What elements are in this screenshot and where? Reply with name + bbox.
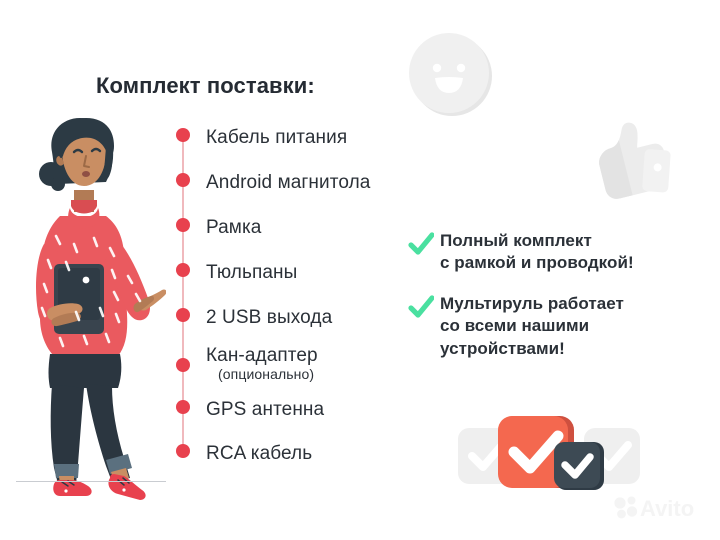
page-title: Комплект поставки: (96, 73, 315, 99)
list-item: 2 USB выхода (176, 308, 332, 327)
list-item-label: RCA кабель (206, 444, 312, 463)
list-item-label: Кабель питания (206, 128, 347, 147)
list-item-label: Рамка (206, 218, 261, 237)
bullet-dot-icon (176, 308, 190, 322)
bullet-dot-icon (176, 400, 190, 414)
list-item-label: Android магнитола (206, 173, 370, 192)
avito-watermark-text: Avito (640, 496, 694, 520)
benefit-item: Полный комплект с рамкой и проводкой! (408, 230, 634, 275)
list-item: Кан-адаптер (опционально) (176, 346, 318, 382)
avito-watermark: Avito (612, 494, 708, 520)
list-item-label: Кан-адаптер (опционально) (206, 346, 318, 382)
bullet-dot-icon (176, 358, 190, 372)
green-check-icon (408, 295, 434, 321)
checkbox-group-icon (456, 402, 642, 498)
benefit-text: Полный комплект с рамкой и проводкой! (440, 230, 634, 275)
thumbs-up-icon (578, 112, 682, 216)
list-item: Android магнитола (176, 173, 370, 192)
list-item-label: Тюльпаны (206, 263, 297, 282)
list-item: RCA кабель (176, 444, 312, 463)
ground-line (16, 481, 166, 482)
poster-canvas: Avito Комплект поставки: (0, 0, 720, 540)
list-item-title: Кан-адаптер (206, 345, 318, 366)
bullet-dot-icon (176, 173, 190, 187)
bullet-dot-icon (176, 128, 190, 142)
list-item-label: 2 USB выхода (206, 308, 332, 327)
smiley-face-icon (404, 28, 496, 120)
list-item-label: GPS антенна (206, 400, 324, 419)
benefit-item: Мультируль работает со всеми нашими устр… (408, 293, 624, 360)
bullet-dot-icon (176, 218, 190, 232)
bullet-dot-icon (176, 444, 190, 458)
list-item: Рамка (176, 218, 261, 237)
bullet-dot-icon (176, 263, 190, 277)
list-item: Тюльпаны (176, 263, 297, 282)
list-item-sublabel: (опционально) (218, 367, 318, 381)
list-item: Кабель питания (176, 128, 347, 147)
woman-pointing-illustration (14, 112, 166, 502)
list-item: GPS антенна (176, 400, 324, 419)
green-check-icon (408, 232, 434, 258)
benefit-text: Мультируль работает со всеми нашими устр… (440, 293, 624, 360)
